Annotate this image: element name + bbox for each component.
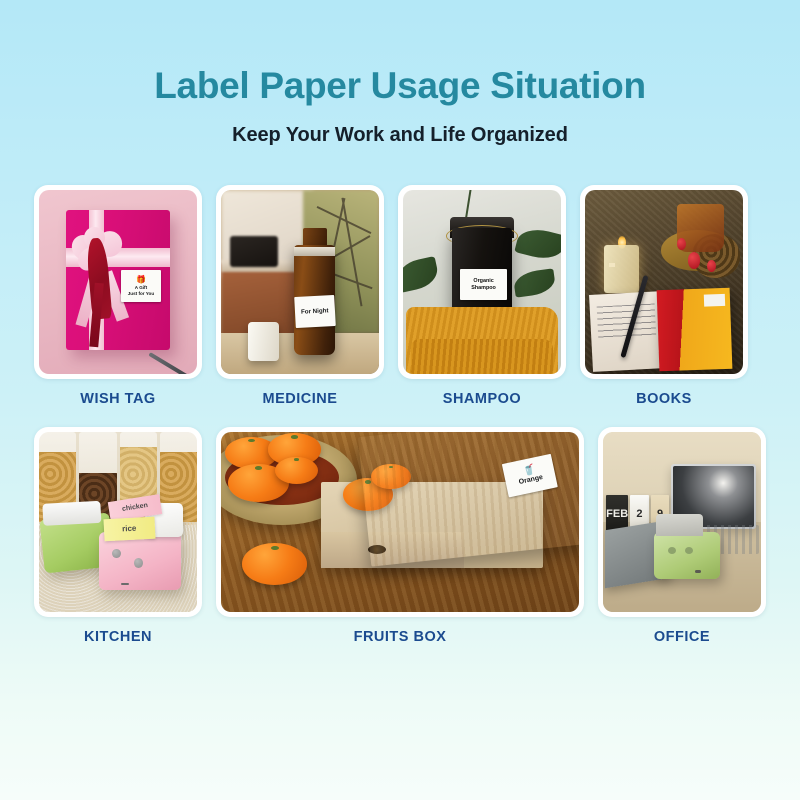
printer-button[interactable] [134, 558, 143, 568]
label-sticker-medicine: For Night [294, 295, 335, 328]
printer-button[interactable] [112, 549, 121, 559]
label-sticker-orange: 🥤 Orange [502, 453, 558, 496]
card-frame: chicken rice [34, 427, 202, 617]
photo-shampoo: Organic Shampoo [403, 190, 561, 374]
paper-roll [43, 501, 102, 526]
printer-button[interactable] [668, 547, 676, 554]
closed-book [656, 288, 731, 371]
card-frame: 🎁 A Gift Just for You [34, 185, 202, 379]
label-sticker-gift: 🎁 A Gift Just for You [121, 270, 161, 302]
printer-button[interactable] [685, 547, 693, 554]
usage-card-office[interactable]: FEB 2 9 OFFICE [598, 427, 766, 645]
usage-grid: 🎁 A Gift Just for You WISH TAG [0, 185, 800, 645]
card-frame [580, 185, 748, 379]
label-sticker-book [703, 294, 725, 306]
photo-wish-tag: 🎁 A Gift Just for You [39, 190, 197, 374]
photo-medicine: For Night [221, 190, 379, 374]
card-frame: 🥤 Orange [216, 427, 584, 617]
usage-card-shampoo[interactable]: Organic Shampoo SHAMPOO [398, 185, 566, 407]
label-line-1: Orange [518, 473, 544, 486]
label-sticker-shampoo: Organic Shampoo [460, 269, 507, 300]
label-line-2: Just for You [128, 291, 154, 296]
pencil-graphic [149, 352, 192, 373]
grid-row-1: 🎁 A Gift Just for You WISH TAG [34, 185, 766, 407]
printer-head [656, 514, 702, 536]
printer-port [695, 570, 702, 573]
printed-label-rice: rice [103, 517, 155, 541]
label-line-2: Shampoo [471, 285, 496, 291]
candle-label [609, 263, 615, 267]
usage-card-kitchen[interactable]: chicken rice KITCHEN [34, 427, 202, 645]
gift-box-graphic: 🎁 A Gift Just for You [66, 210, 170, 350]
photo-kitchen: chicken rice [39, 432, 197, 612]
leaf-graphic [514, 225, 561, 263]
card-caption: SHAMPOO [398, 391, 566, 407]
green-label-printer [654, 532, 720, 579]
card-caption: OFFICE [598, 629, 766, 645]
printer-port [121, 583, 128, 586]
gift-icon: 🎁 [136, 276, 146, 284]
dark-box-graphic [230, 236, 277, 267]
card-frame: FEB 2 9 [598, 427, 766, 617]
usage-card-medicine[interactable]: For Night MEDICINE [216, 185, 384, 407]
card-caption: FRUITS BOX [216, 629, 584, 645]
candle-jar [604, 245, 639, 293]
card-frame: For Night [216, 185, 384, 379]
wooden-box-lid: 🥤 Orange [358, 432, 579, 566]
bottle-cap [248, 322, 280, 361]
card-caption: KITCHEN [34, 629, 202, 645]
card-caption: MEDICINE [216, 391, 384, 407]
card-frame: Organic Shampoo [398, 185, 566, 379]
towel-bottom [411, 339, 553, 374]
berry-graphic [688, 252, 701, 269]
usage-card-books[interactable]: BOOKS [580, 185, 748, 407]
photo-books [585, 190, 743, 374]
orange-fruit [242, 543, 306, 584]
grid-row-2: chicken rice KITCHEN [34, 427, 766, 645]
bottle-collar [294, 247, 335, 256]
usage-card-fruits-box[interactable]: 🥤 Orange FRUITS BOX [216, 427, 584, 645]
label-line-1: For Night [301, 308, 329, 317]
card-caption: BOOKS [580, 391, 748, 407]
photo-fruits-box: 🥤 Orange [221, 432, 579, 612]
label-line-1: Organic [473, 278, 493, 284]
card-caption: WISH TAG [34, 391, 202, 407]
pink-label-printer [99, 532, 181, 590]
leaf-graphic [512, 268, 556, 297]
page-header: Label Paper Usage Situation Keep Your Wo… [0, 0, 800, 147]
page-subtitle: Keep Your Work and Life Organized [0, 124, 800, 147]
photo-office: FEB 2 9 [603, 432, 761, 612]
leaf-graphic [403, 256, 440, 293]
orange-fruit [275, 457, 318, 484]
usage-card-wish-tag[interactable]: 🎁 A Gift Just for You WISH TAG [34, 185, 202, 407]
page-title: Label Paper Usage Situation [0, 66, 800, 107]
